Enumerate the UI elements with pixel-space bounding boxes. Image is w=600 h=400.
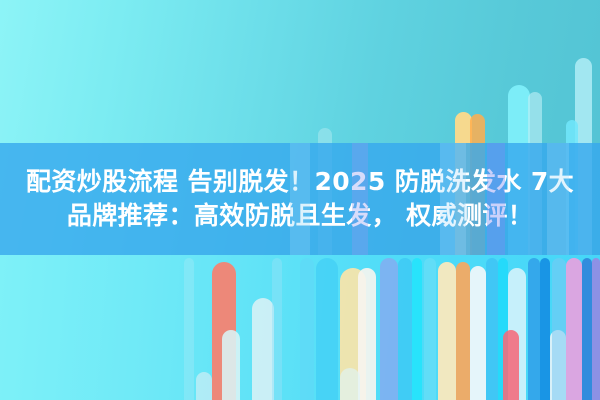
headline-line-2: 品牌推荐：高效防脱且生发， 权威测评！	[67, 199, 533, 234]
headline-band: 配资炒股流程 告别脱发！2025 防脱洗发水 7大 品牌推荐：高效防脱且生发， …	[0, 143, 600, 255]
background-gradient-bottom	[0, 255, 600, 400]
promo-banner: 配资炒股流程 告别脱发！2025 防脱洗发水 7大 品牌推荐：高效防脱且生发， …	[0, 0, 600, 400]
headline-line-1: 配资炒股流程 告别脱发！2025 防脱洗发水 7大	[26, 165, 574, 200]
decorative-bar	[547, 143, 569, 255]
